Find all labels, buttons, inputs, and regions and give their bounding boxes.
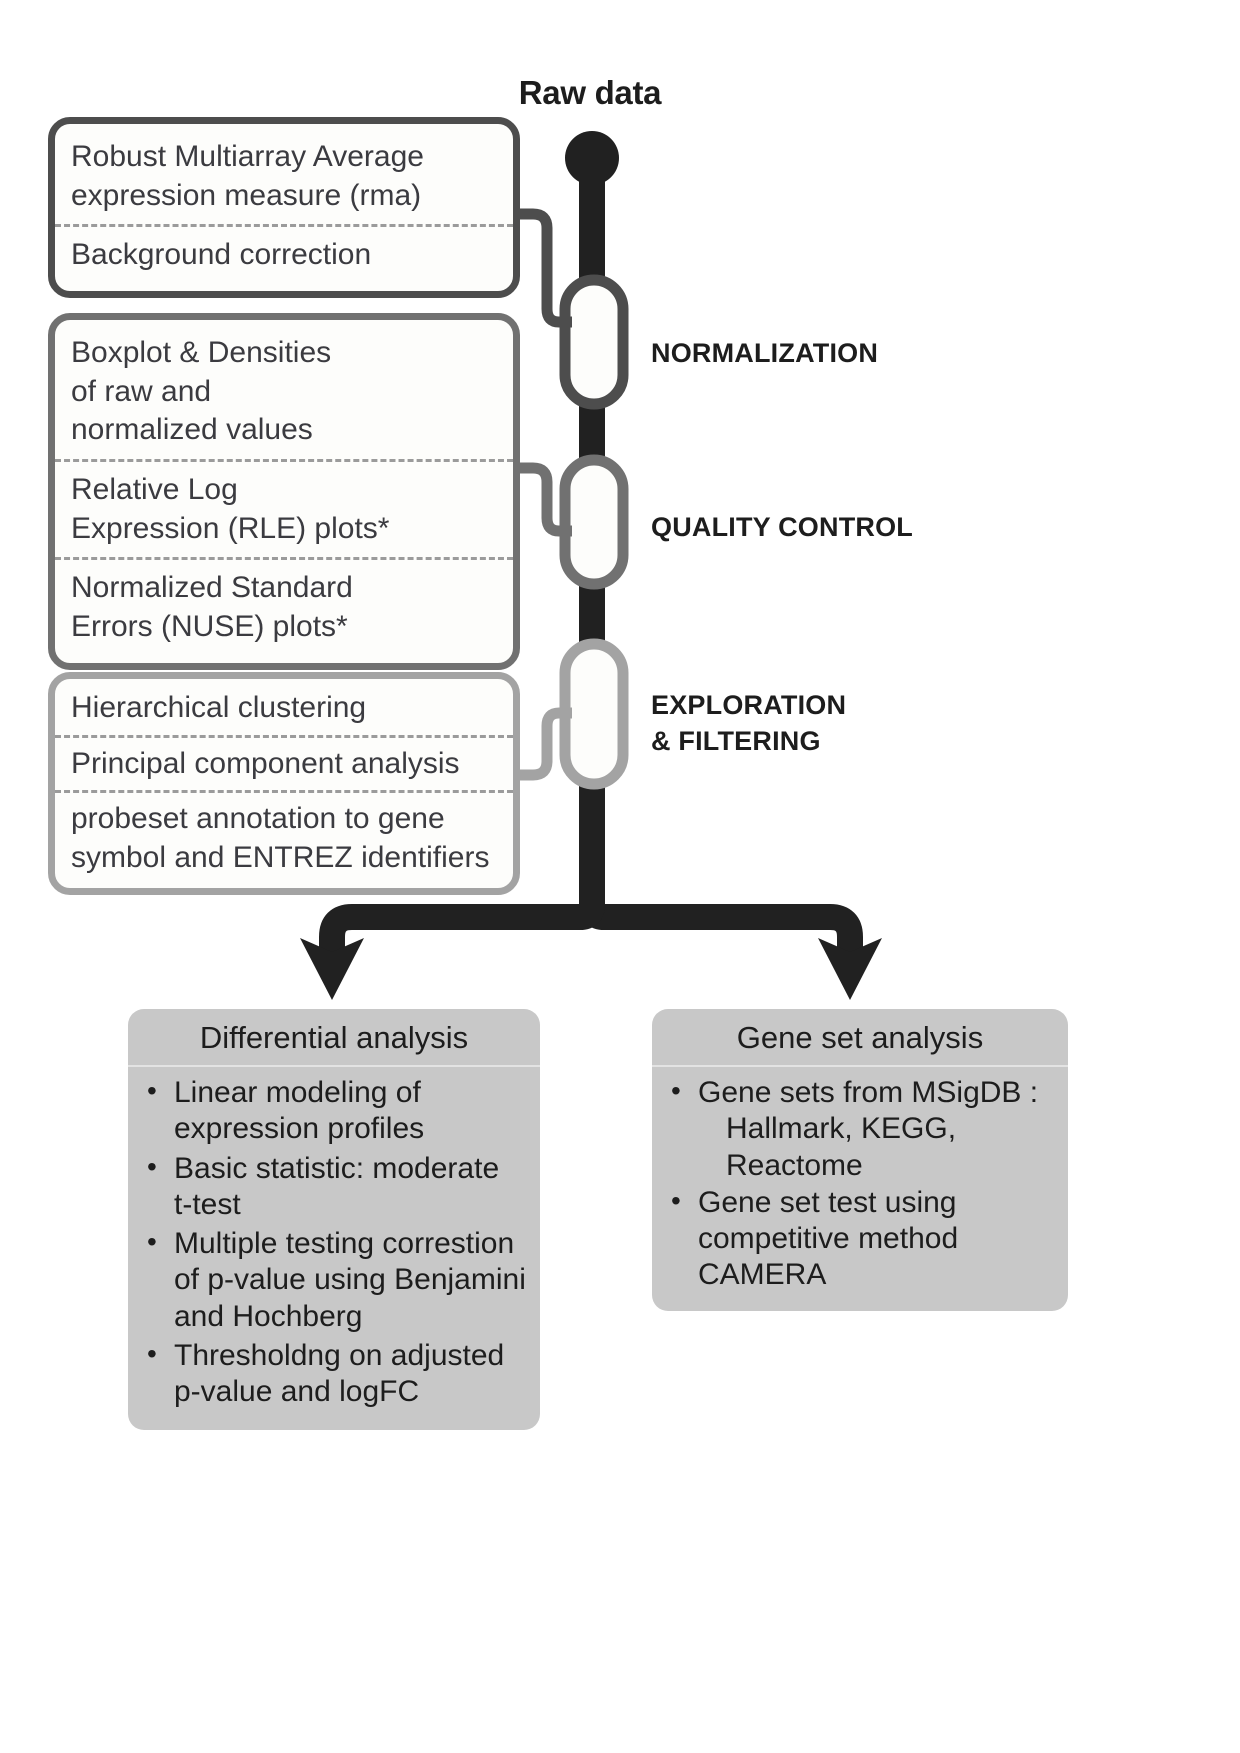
panel-bullet-list: Gene sets from MSigDB :Hallmark, KEGG,Re…	[652, 1067, 1068, 1311]
phase-label-quality: QUALITY CONTROL	[651, 510, 913, 546]
stage-box-normalization[interactable]: Robust Multiarray Averageexpression meas…	[48, 117, 520, 298]
stage-box-exploration[interactable]: Hierarchical clustering Principal compon…	[48, 672, 520, 895]
spine-capsule-normalization	[565, 280, 623, 404]
stage-item: Robust Multiarray Averageexpression meas…	[55, 129, 513, 224]
panel-title: Differential analysis	[128, 1009, 540, 1067]
branch-fork	[300, 880, 882, 1000]
spine-capsule-quality	[565, 460, 623, 584]
stage-item: probeset annotation to genesymbol and EN…	[55, 790, 513, 884]
list-item: Gene set test usingcompetitive methodCAM…	[698, 1185, 1056, 1294]
list-item: Thresholdng on adjustedp-value and logFC	[174, 1338, 528, 1411]
list-item: Gene sets from MSigDB :Hallmark, KEGG,Re…	[698, 1075, 1056, 1184]
stage-item: Boxplot & Densitiesof raw andnormalized …	[55, 325, 513, 459]
phase-label-exploration: EXPLORATION& FILTERING	[651, 688, 846, 760]
stage-item: Normalized StandardErrors (NUSE) plots*	[55, 557, 513, 655]
panel-title: Gene set analysis	[652, 1009, 1068, 1067]
stage-item: Relative LogExpression (RLE) plots*	[55, 459, 513, 557]
spine-capsule-exploration	[565, 644, 623, 784]
panel-differential-analysis[interactable]: Differential analysis Linear modeling of…	[128, 1009, 540, 1430]
stage-item: Background correction	[55, 224, 513, 284]
list-item: Multiple testing correstionof p-value us…	[174, 1226, 528, 1335]
panel-bullet-list: Linear modeling ofexpression profiles Ba…	[128, 1067, 540, 1430]
stage-box-quality[interactable]: Boxplot & Densitiesof raw andnormalized …	[48, 313, 520, 670]
page-title: Raw data	[420, 74, 760, 112]
stage-item: Principal component analysis	[55, 735, 513, 791]
flowchart-canvas: Raw data Robust Multiarray Averageexpres…	[0, 0, 1240, 1753]
phase-label-normalization: NORMALIZATION	[651, 336, 878, 372]
list-item: Basic statistic: moderatet-test	[174, 1151, 528, 1224]
list-item: Linear modeling ofexpression profiles	[174, 1075, 528, 1148]
stage-item: Hierarchical clustering	[55, 682, 513, 735]
panel-gene-set-analysis[interactable]: Gene set analysis Gene sets from MSigDB …	[652, 1009, 1068, 1311]
